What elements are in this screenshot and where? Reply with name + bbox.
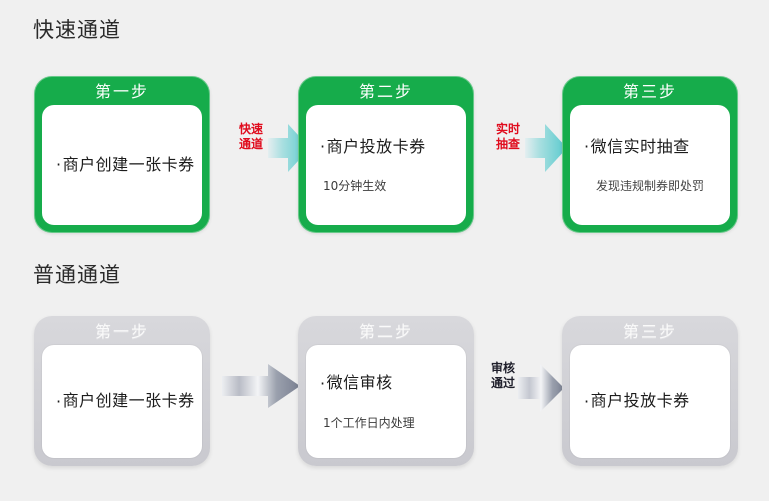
normal-step-3-main-label: 商户投放卡券 <box>591 391 690 410</box>
normal-step-1-main-label: 商户创建一张卡券 <box>63 391 195 410</box>
fast-step-3[interactable]: 第三步 ·微信实时抽查 发现违规制券即处罚 <box>562 76 738 233</box>
normal-step-3-header: 第三步 <box>562 322 738 341</box>
normal-step-2-header: 第二步 <box>298 322 474 341</box>
fast-arrow-1-label-line2: 通道 <box>232 137 270 152</box>
normal-arrow-2: 审核 通过 <box>482 355 566 421</box>
fast-step-2-card: ·商户投放卡券 10分钟生效 <box>306 105 466 225</box>
section-title-fast-channel: 快速通道 <box>33 14 121 44</box>
normal-step-1-card: ·商户创建一张卡券 <box>42 345 202 458</box>
bullet-icon: · <box>320 137 326 156</box>
fast-step-1-main-label: 商户创建一张卡券 <box>63 155 195 174</box>
normal-step-1-header: 第一步 <box>34 322 210 341</box>
normal-arrow-2-label: 审核 通过 <box>484 361 522 391</box>
fast-step-3-header: 第三步 <box>562 82 738 101</box>
bullet-icon: · <box>320 374 326 393</box>
normal-step-3[interactable]: 第三步 ·商户投放卡券 <box>562 316 738 466</box>
normal-step-2-sub-label: 1个工作日内处理 <box>306 415 466 431</box>
fast-step-3-card: ·微信实时抽查 发现违规制券即处罚 <box>570 105 730 225</box>
fast-step-2-main-text: ·商户投放卡券 <box>306 136 466 159</box>
normal-arrow-2-icon <box>518 360 566 416</box>
fast-step-1-main-text: ·商户创建一张卡券 <box>42 154 202 177</box>
normal-step-1[interactable]: 第一步 ·商户创建一张卡券 <box>34 316 210 466</box>
normal-step-1-main-text: ·商户创建一张卡券 <box>42 390 202 413</box>
normal-arrow-2-label-line2: 通过 <box>484 376 522 391</box>
fast-step-1[interactable]: 第一步 ·商户创建一张卡券 <box>34 76 210 233</box>
normal-arrow-1 <box>222 355 306 415</box>
fast-step-2-sub-label: 10分钟生效 <box>306 178 466 194</box>
fast-arrow-2-label: 实时 抽查 <box>489 122 527 152</box>
fast-arrow-2: 实时 抽查 <box>487 112 567 184</box>
normal-step-2[interactable]: 第二步 ·微信审核 1个工作日内处理 <box>298 316 474 466</box>
normal-step-3-card: ·商户投放卡券 <box>570 345 730 458</box>
fast-step-1-header: 第一步 <box>34 82 210 101</box>
bullet-icon: · <box>584 392 590 411</box>
fast-step-2-header: 第二步 <box>298 82 474 101</box>
normal-step-3-main-text: ·商户投放卡券 <box>570 390 730 413</box>
fast-arrow-1-label-line1: 快速 <box>232 122 270 137</box>
fast-arrow-2-label-line1: 实时 <box>489 122 527 137</box>
section-title-normal-channel: 普通通道 <box>33 259 121 289</box>
fast-step-3-sub-label: 发现违规制券即处罚 <box>570 178 730 194</box>
normal-step-2-main-label: 微信审核 <box>327 373 393 392</box>
normal-arrow-1-icon <box>222 362 302 410</box>
fast-arrow-2-label-line2: 抽查 <box>489 137 527 152</box>
fast-step-3-main-text: ·微信实时抽查 <box>570 136 730 159</box>
fast-step-3-main-label: 微信实时抽查 <box>591 137 690 156</box>
bullet-icon: · <box>584 137 590 156</box>
bullet-icon: · <box>56 392 62 411</box>
fast-step-2[interactable]: 第二步 ·商户投放卡券 10分钟生效 <box>298 76 474 233</box>
fast-step-1-card: ·商户创建一张卡券 <box>42 105 202 225</box>
flowchart-canvas: 快速通道 第一步 ·商户创建一张卡券 快速 通道 第二步 <box>0 0 769 501</box>
fast-arrow-1: 快速 通道 <box>228 112 308 184</box>
bullet-icon: · <box>56 155 62 174</box>
normal-arrow-2-label-line1: 审核 <box>484 361 522 376</box>
fast-step-2-main-label: 商户投放卡券 <box>327 137 426 156</box>
normal-step-2-card: ·微信审核 1个工作日内处理 <box>306 345 466 458</box>
normal-step-2-main-text: ·微信审核 <box>306 372 466 395</box>
fast-arrow-1-label: 快速 通道 <box>232 122 270 152</box>
